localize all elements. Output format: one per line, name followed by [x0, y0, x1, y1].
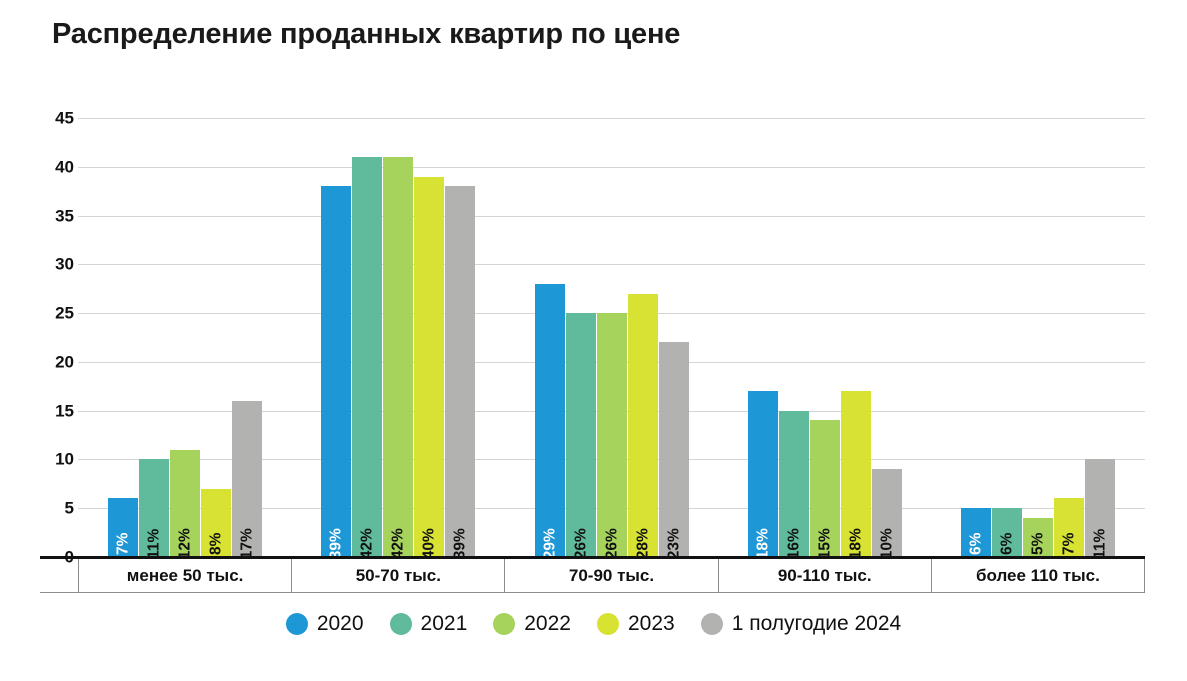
chart-root: Распределение проданных квартир по цене …: [0, 0, 1187, 681]
page-title: Распределение проданных квартир по цене: [52, 18, 680, 51]
category-label: 50-70 тыс.: [291, 559, 504, 593]
bar[interactable]: 5%: [1023, 518, 1053, 557]
bar-value-label: 5%: [1031, 532, 1047, 554]
bar-value-label: 15%: [817, 528, 833, 559]
legend-label: 2022: [524, 612, 571, 636]
bar[interactable]: 26%: [566, 313, 596, 557]
bar-value-label: 17%: [239, 528, 255, 559]
category-axis: менее 50 тыс.50-70 тыс.70-90 тыс.90-110 …: [78, 559, 1145, 593]
bars: 29%26%26%28%23%: [505, 118, 718, 557]
bar[interactable]: 28%: [628, 294, 658, 557]
bar-value-label: 42%: [390, 528, 406, 559]
bar-value-label: 11%: [1093, 528, 1109, 558]
bar-value-label: 39%: [328, 528, 344, 559]
bars: 6%6%5%7%11%: [932, 118, 1145, 557]
bar-value-label: 18%: [755, 528, 771, 559]
bar[interactable]: 12%: [170, 450, 200, 557]
legend: 20202021202220231 полугодие 2024: [0, 612, 1187, 636]
category-label: более 110 тыс.: [931, 559, 1145, 593]
bar-value-label: 12%: [177, 528, 193, 559]
bar[interactable]: 39%: [321, 186, 351, 557]
bars: 39%42%42%40%39%: [291, 118, 504, 557]
bar-groups: 7%11%12%8%17%39%42%42%40%39%29%26%26%28%…: [78, 118, 1145, 557]
bar-value-label: 10%: [879, 528, 895, 559]
y-axis-tick: 10: [40, 451, 74, 468]
y-axis-tick: 15: [40, 402, 74, 419]
y-axis-tick: 25: [40, 305, 74, 322]
bar[interactable]: 23%: [659, 342, 689, 557]
bar[interactable]: 18%: [748, 391, 778, 557]
y-axis-tick: 40: [40, 158, 74, 175]
legend-swatch-icon: [286, 613, 308, 635]
category-label: менее 50 тыс.: [78, 559, 291, 593]
category-label: 70-90 тыс.: [504, 559, 717, 593]
plot-area: 7%11%12%8%17%39%42%42%40%39%29%26%26%28%…: [78, 118, 1145, 557]
bar[interactable]: 39%: [445, 186, 475, 557]
bar-value-label: 7%: [1062, 532, 1078, 554]
bar[interactable]: 6%: [992, 508, 1022, 557]
bar[interactable]: 7%: [108, 498, 138, 557]
legend-swatch-icon: [701, 613, 723, 635]
bar[interactable]: 42%: [352, 157, 382, 557]
bar-value-label: 29%: [542, 528, 558, 559]
bar-group: 29%26%26%28%23%: [505, 118, 718, 557]
legend-label: 2021: [421, 612, 468, 636]
legend-label: 2023: [628, 612, 675, 636]
bar[interactable]: 42%: [383, 157, 413, 557]
y-axis: 051015202530354045: [40, 118, 74, 557]
legend-label: 2020: [317, 612, 364, 636]
legend-label: 1 полугодие 2024: [732, 612, 902, 636]
bar-value-label: 6%: [969, 532, 985, 554]
bars: 7%11%12%8%17%: [78, 118, 291, 557]
legend-swatch-icon: [493, 613, 515, 635]
bar[interactable]: 11%: [139, 459, 169, 557]
bar-value-label: 23%: [666, 528, 682, 559]
legend-item[interactable]: 2023: [597, 612, 675, 636]
bar[interactable]: 26%: [597, 313, 627, 557]
bar[interactable]: 6%: [961, 508, 991, 557]
category-axis-stub: [40, 559, 78, 593]
bar-value-label: 26%: [573, 528, 589, 559]
legend-swatch-icon: [597, 613, 619, 635]
bar-value-label: 8%: [208, 532, 224, 554]
bar-value-label: 28%: [635, 528, 651, 559]
bar[interactable]: 11%: [1085, 459, 1115, 557]
bar[interactable]: 29%: [535, 284, 565, 557]
bar-value-label: 40%: [421, 528, 437, 559]
bar[interactable]: 17%: [232, 401, 262, 557]
bar-group: 18%16%15%18%10%: [718, 118, 931, 557]
y-axis-tick: 45: [40, 110, 74, 127]
bar-value-label: 11%: [146, 528, 162, 558]
bar-value-label: 39%: [452, 528, 468, 559]
y-axis-tick: 5: [40, 500, 74, 517]
bar-value-label: 16%: [786, 528, 802, 559]
bar-value-label: 6%: [1000, 532, 1016, 554]
bars: 18%16%15%18%10%: [718, 118, 931, 557]
bar[interactable]: 8%: [201, 489, 231, 557]
bar[interactable]: 7%: [1054, 498, 1084, 557]
legend-item[interactable]: 2021: [390, 612, 468, 636]
bar[interactable]: 40%: [414, 177, 444, 557]
legend-item[interactable]: 2020: [286, 612, 364, 636]
y-axis-tick: 35: [40, 207, 74, 224]
bar-value-label: 42%: [359, 528, 375, 559]
legend-item[interactable]: 1 полугодие 2024: [701, 612, 902, 636]
category-label: 90-110 тыс.: [718, 559, 931, 593]
bar-value-label: 26%: [604, 528, 620, 559]
bar-value-label: 18%: [848, 528, 864, 559]
bar[interactable]: 18%: [841, 391, 871, 557]
bar[interactable]: 10%: [872, 469, 902, 557]
bar[interactable]: 15%: [810, 420, 840, 557]
bar-group: 7%11%12%8%17%: [78, 118, 291, 557]
legend-swatch-icon: [390, 613, 412, 635]
legend-item[interactable]: 2022: [493, 612, 571, 636]
bar-value-label: 7%: [115, 532, 131, 554]
bar[interactable]: 16%: [779, 411, 809, 557]
bar-group: 39%42%42%40%39%: [291, 118, 504, 557]
bar-group: 6%6%5%7%11%: [932, 118, 1145, 557]
y-axis-tick: 30: [40, 256, 74, 273]
y-axis-tick: 20: [40, 353, 74, 370]
